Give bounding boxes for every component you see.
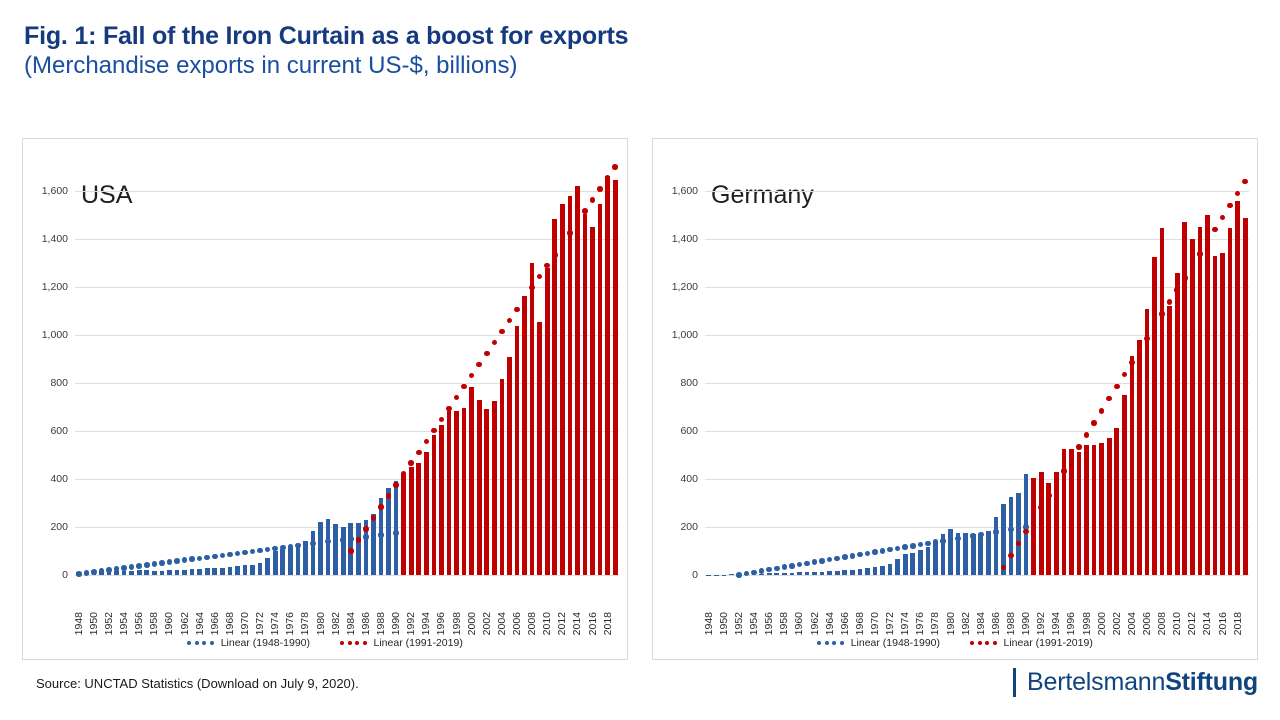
trendline-dot-blue (1001, 528, 1007, 534)
trendline-dot-red (1091, 420, 1097, 426)
y-axis-tick-label: 1,600 (42, 185, 68, 197)
trendline-dot-blue (880, 548, 886, 554)
trendline-dot-blue (159, 560, 165, 566)
logo-bold: Stiftung (1165, 668, 1258, 696)
x-axis-tick-label: 1988 (1006, 612, 1017, 635)
x-axis-tick-label: 1960 (164, 612, 175, 635)
logo-bar-icon (1013, 668, 1016, 697)
trendline-dot-red (575, 219, 581, 225)
trendline-dot-blue (850, 553, 856, 559)
bar (220, 568, 225, 575)
trendline-dot-blue (189, 556, 195, 562)
bar (273, 551, 278, 575)
trendline-dot-blue (152, 561, 158, 567)
y-axis-tick-label: 600 (50, 425, 68, 437)
x-axis-tick-label: 1978 (930, 612, 941, 635)
x-axis-tick-label: 1998 (452, 612, 463, 635)
x-axis-tick-label: 1986 (991, 612, 1002, 635)
trendline-dot-red (597, 186, 603, 192)
y-axis-tick-label: 0 (62, 569, 68, 581)
plot-area-usa: 02004006008001,0001,2001,4001,600 (75, 167, 619, 575)
x-axis-tick-label: 1994 (1051, 612, 1062, 635)
trendline-dot-red (1038, 505, 1044, 511)
bar (1084, 445, 1089, 575)
bar (409, 467, 414, 575)
x-axis-tick-label: 1988 (376, 612, 387, 635)
trendline-dot-blue (348, 536, 354, 542)
bar (888, 564, 893, 575)
trendline-dot-red (1174, 287, 1180, 293)
trendline-dot-red (1061, 468, 1067, 474)
bar (484, 409, 489, 575)
bar (1092, 445, 1097, 575)
bar (552, 219, 557, 575)
bar (918, 550, 923, 575)
bar (1167, 306, 1172, 575)
bar (492, 401, 497, 575)
bar (1031, 478, 1036, 575)
trendline-dot-blue (265, 547, 271, 553)
trendline-dot-red (1197, 251, 1203, 257)
bar (605, 176, 610, 575)
trendline-dot-blue (363, 534, 369, 540)
trendline-dot-red (492, 340, 498, 346)
trendline-dot-blue (227, 552, 233, 558)
trendline-dot-blue (129, 564, 135, 570)
trendline-dot-blue (371, 533, 377, 539)
trendline-dot-blue (257, 548, 263, 554)
bar (880, 566, 885, 575)
bar (1145, 309, 1150, 575)
bar (1220, 253, 1225, 575)
trendline-dot-red (408, 460, 414, 466)
x-axis-tick-label: 1984 (346, 612, 357, 635)
bar (228, 567, 233, 575)
trendline-dot-red (1084, 432, 1090, 438)
bar (545, 268, 550, 575)
trendline-dot-red (1159, 311, 1165, 317)
x-axis-tick-label: 1976 (915, 612, 926, 635)
bar (318, 522, 323, 575)
bar (265, 558, 270, 575)
trendline-dot-blue (295, 543, 301, 549)
trendline-dot-red (1069, 456, 1075, 462)
x-axis-tick-label: 1962 (180, 612, 191, 635)
x-axis-tick-label: 1974 (270, 612, 281, 635)
bar (333, 524, 338, 575)
trendline-dot-blue (136, 563, 142, 569)
trendline-dot-blue (167, 559, 173, 565)
page-title: Fig. 1: Fall of the Iron Curtain as a bo… (24, 22, 628, 52)
y-axis-tick-label: 1,000 (672, 329, 698, 341)
trendline-dot-blue (220, 553, 226, 559)
trendline-dot-blue (766, 567, 772, 573)
trendline-dot-blue (955, 536, 961, 542)
y-axis-tick-label: 1,200 (42, 281, 68, 293)
trendline-dot-blue (782, 564, 788, 570)
trendline-dot-red (1076, 444, 1082, 450)
trendline-dot-red (1023, 529, 1029, 535)
bar (1099, 443, 1104, 575)
bar (1107, 438, 1112, 575)
legend-usa: Linear (1948-1990) Linear (1991-2019) (23, 637, 627, 649)
trendline-dot-blue (902, 544, 908, 550)
x-axis-tick-label: 2002 (482, 612, 493, 635)
bar (1198, 227, 1203, 575)
dotted-line-red-icon (340, 641, 367, 645)
x-axis-tick-label: 2000 (1097, 612, 1108, 635)
x-axis-tick-label: 1990 (391, 612, 402, 635)
trendline-dot-blue (174, 558, 180, 564)
bar (477, 400, 482, 575)
trendline-dot-red (507, 318, 513, 324)
bar (926, 547, 931, 575)
bar (873, 567, 878, 575)
x-axis-tick-label: 2018 (603, 612, 614, 635)
x-axis-tick-label: 1980 (946, 612, 957, 635)
x-axis-tick-label: 1996 (1066, 612, 1077, 635)
trendline-dot-red (1242, 179, 1248, 185)
x-axis-tick-label: 1954 (749, 612, 760, 635)
trendline-dot-blue (212, 554, 218, 560)
bar (560, 204, 565, 575)
bar (613, 180, 618, 575)
x-axis-tick-label: 1956 (134, 612, 145, 635)
x-axis-tick-label: 2014 (1202, 612, 1213, 635)
trendline-dot-red (363, 526, 369, 532)
legend-germany: Linear (1948-1990) Linear (1991-2019) (653, 637, 1257, 649)
bar (469, 387, 474, 575)
bar (598, 204, 603, 575)
trendline-dot-blue (789, 563, 795, 569)
trendline-dot-blue (887, 547, 893, 553)
x-axis-tick-label: 1962 (810, 612, 821, 635)
legend-label-red: Linear (1991-2019) (374, 637, 463, 649)
trendline-dot-red (514, 307, 520, 313)
x-axis-tick-label: 1990 (1021, 612, 1032, 635)
trendline-dot-blue (925, 541, 931, 547)
trendline-dot-blue (910, 543, 916, 549)
bar (258, 563, 263, 575)
bar (522, 296, 527, 575)
bar (1009, 497, 1014, 575)
legend-label-blue: Linear (1948-1990) (221, 637, 310, 649)
x-axis-tick-label: 2014 (572, 612, 583, 635)
x-axis-tick-label: 1972 (885, 612, 896, 635)
bar (865, 568, 870, 575)
trendline-dot-blue (797, 562, 803, 568)
bar (1069, 449, 1074, 575)
trendline-dot-red (552, 252, 558, 258)
bar (500, 379, 505, 576)
x-axis-tick-label: 1956 (764, 612, 775, 635)
x-axis-tick-label: 2006 (1142, 612, 1153, 635)
trendline-dot-red (612, 164, 618, 170)
x-axis-tick-label: 1970 (870, 612, 881, 635)
x-axis-tick-label: 1964 (195, 612, 206, 635)
bar (243, 565, 248, 575)
bar (515, 326, 520, 575)
trendline-dot-red (590, 197, 596, 203)
title-block: Fig. 1: Fall of the Iron Curtain as a bo… (24, 22, 628, 80)
x-axis-tick-label: 2000 (467, 612, 478, 635)
bar (933, 541, 938, 575)
trendline-dot-red (1227, 203, 1233, 209)
trendline-dot-blue (182, 557, 188, 563)
trendline-dot-red (1190, 263, 1196, 269)
trendline-dot-red (537, 274, 543, 280)
chart-panel-usa: USA 02004006008001,0001,2001,4001,600 19… (22, 138, 628, 660)
trendline-dot-blue (774, 566, 780, 572)
x-axis-tick-label: 1984 (976, 612, 987, 635)
trendline-dot-red (1114, 384, 1120, 390)
trendline-dot-red (469, 373, 475, 379)
trendline-dot-red (1182, 275, 1188, 281)
plot-area-germany: 02004006008001,0001,2001,4001,600 (705, 167, 1249, 575)
trendline-dot-blue (242, 550, 248, 556)
trendline-dot-red (1099, 408, 1105, 414)
legend-label-red: Linear (1991-2019) (1004, 637, 1093, 649)
trendline-dot-red (1122, 372, 1128, 378)
bar (296, 546, 301, 575)
x-axis-tick-label: 1974 (900, 612, 911, 635)
x-axis-tick-label: 2010 (542, 612, 553, 635)
trendline-dot-blue (114, 566, 120, 572)
trendline-dot-red (461, 384, 467, 390)
trendline-dot-red (1144, 336, 1150, 342)
bar (250, 565, 255, 575)
x-axis-tick-label: 1968 (225, 612, 236, 635)
bar (895, 559, 900, 575)
bar (447, 410, 452, 575)
trendline-dot-blue (91, 569, 97, 575)
x-axis-tick-label: 1986 (361, 612, 372, 635)
bar (1235, 201, 1240, 575)
trendline-dot-red (446, 406, 452, 412)
bar (356, 523, 361, 576)
trendline-dot-red (1054, 480, 1060, 486)
x-axis-tick-label: 1948 (74, 612, 85, 635)
bar (341, 527, 346, 575)
logo-regular: Bertelsmann (1027, 668, 1165, 696)
trendline-dot-red (582, 208, 588, 214)
trendline-dot-red (378, 504, 384, 510)
dotted-line-blue-icon (817, 641, 844, 645)
bar (1243, 218, 1248, 575)
trendline-dot-red (1205, 239, 1211, 245)
trendline-dot-blue (378, 532, 384, 538)
bar (1205, 215, 1210, 575)
bar (439, 425, 444, 575)
trendline-dot-blue (978, 532, 984, 538)
bar (462, 408, 467, 575)
y-axis-tick-label: 1,200 (672, 281, 698, 293)
x-axis-tick-label: 2018 (1233, 612, 1244, 635)
bar (288, 547, 293, 575)
x-axis-tick-label: 1978 (300, 612, 311, 635)
trendline-dot-blue (197, 556, 203, 562)
trendline-dot-blue (812, 559, 818, 565)
page-subtitle: (Merchandise exports in current US-$, bi… (24, 52, 628, 80)
x-axis-tick-label: 1958 (149, 612, 160, 635)
trendline-dot-blue (986, 531, 992, 537)
x-axis-tick-label: 2004 (497, 612, 508, 635)
legend-item-red: Linear (1991-2019) (970, 637, 1093, 649)
trendline-dot-red (454, 395, 460, 401)
bar (1122, 395, 1127, 575)
x-axis-tick-label: 1972 (255, 612, 266, 635)
x-axis-tick-label: 1982 (331, 612, 342, 635)
trendline-dot-red (424, 439, 430, 445)
x-axis-tick-label: 2008 (1157, 612, 1168, 635)
bar (575, 186, 580, 575)
trendline-dot-blue (827, 557, 833, 563)
trendline-dot-blue (280, 545, 286, 551)
x-axis-tick-label: 1982 (961, 612, 972, 635)
y-axis-tick-label: 0 (692, 569, 698, 581)
bars-usa (75, 167, 619, 575)
bar (1190, 239, 1195, 575)
x-axis-tick-label: 1966 (840, 612, 851, 635)
trendline-dot-red (1235, 191, 1241, 197)
bar (1077, 452, 1082, 575)
y-axis-tick-label: 400 (680, 473, 698, 485)
dotted-line-blue-icon (187, 641, 214, 645)
bar (971, 534, 976, 575)
y-axis-tick-label: 1,400 (42, 233, 68, 245)
bar (1114, 428, 1119, 575)
chart-panel-germany: Germany 02004006008001,0001,2001,4001,60… (652, 138, 1258, 660)
bar (326, 519, 331, 575)
bar (590, 227, 595, 575)
bars-germany (705, 167, 1249, 575)
bar (978, 534, 983, 575)
bar (1152, 257, 1157, 575)
trendline-dot-blue (121, 565, 127, 571)
bar (1137, 340, 1142, 575)
bar (280, 549, 285, 575)
x-axis-tick-label: 2002 (1112, 612, 1123, 635)
trendline-dot-red (348, 548, 354, 554)
trendline-dot-blue (865, 551, 871, 557)
chart-panels: USA 02004006008001,0001,2001,4001,600 19… (22, 138, 1258, 660)
bar (424, 452, 429, 575)
trendline-dot-red (1167, 299, 1173, 305)
x-axis-tick-label: 1994 (421, 612, 432, 635)
trendline-dot-blue (993, 529, 999, 535)
y-axis-tick-label: 200 (680, 521, 698, 533)
trendline-dot-red (356, 537, 362, 543)
trendline-dot-blue (393, 530, 399, 536)
trendline-dot-red (476, 362, 482, 368)
x-axis-tick-label: 2012 (1187, 612, 1198, 635)
trendline-dot-red (371, 515, 377, 521)
bar (537, 322, 542, 575)
x-axis-tick-label: 2004 (1127, 612, 1138, 635)
source-note: Source: UNCTAD Statistics (Download on J… (36, 676, 359, 691)
trendline-dot-blue (940, 538, 946, 544)
bar (212, 568, 217, 575)
trendline-dot-blue (333, 538, 339, 544)
x-axis-tick-label: 1950 (89, 612, 100, 635)
x-axis-tick-label: 2008 (527, 612, 538, 635)
x-axis-tick-label: 1998 (1082, 612, 1093, 635)
trendline-dot-blue (386, 531, 392, 537)
x-axis-tick-label: 1980 (316, 612, 327, 635)
y-axis-tick-label: 800 (50, 377, 68, 389)
bar (401, 474, 406, 575)
y-axis-tick-label: 200 (50, 521, 68, 533)
trendline-dot-red (1220, 215, 1226, 221)
x-axis-tick-label: 1992 (1036, 612, 1047, 635)
trendline-dot-blue (804, 561, 810, 567)
trendline-dot-blue (933, 539, 939, 545)
x-axis-usa: 1948195019521954195619581960196219641966… (75, 575, 619, 635)
trendline-dot-blue (106, 567, 112, 573)
bar (371, 514, 376, 575)
x-axis-tick-label: 1954 (119, 612, 130, 635)
bar (986, 531, 991, 575)
y-axis-tick-label: 1,400 (672, 233, 698, 245)
trendline-dot-red (1129, 360, 1135, 366)
x-axis-tick-label: 1952 (104, 612, 115, 635)
bar (948, 529, 953, 575)
trendline-dot-blue (144, 562, 150, 568)
x-axis-tick-label: 2016 (1218, 612, 1229, 635)
x-axis-tick-label: 1948 (704, 612, 715, 635)
trendline-dot-red (393, 482, 399, 488)
trendline-dot-red (567, 230, 573, 236)
bertelsmann-logo: BertelsmannStiftung (1013, 668, 1258, 697)
x-axis-tick-label: 2016 (588, 612, 599, 635)
legend-item-red: Linear (1991-2019) (340, 637, 463, 649)
bar (568, 196, 573, 575)
bar (1213, 256, 1218, 575)
bar (394, 481, 399, 575)
x-axis-tick-label: 2012 (557, 612, 568, 635)
x-axis-tick-label: 1964 (825, 612, 836, 635)
trendline-dot-blue (842, 554, 848, 560)
bar (994, 517, 999, 575)
x-axis-tick-label: 1992 (406, 612, 417, 635)
bar (903, 554, 908, 575)
trendline-dot-blue (235, 551, 241, 557)
x-axis-tick-label: 1950 (719, 612, 730, 635)
trendline-dot-red (484, 351, 490, 357)
bar (454, 411, 459, 575)
bar (1175, 273, 1180, 575)
dotted-line-red-icon (970, 641, 997, 645)
trendline-dot-red (439, 417, 445, 423)
trendline-dot-blue (895, 546, 901, 552)
trendline-dot-blue (340, 537, 346, 543)
bar (1054, 472, 1059, 575)
bar (1016, 493, 1021, 575)
trendline-dot-blue (1008, 527, 1014, 533)
bar (205, 568, 210, 575)
legend-label-blue: Linear (1948-1990) (851, 637, 940, 649)
x-axis-tick-label: 2010 (1172, 612, 1183, 635)
trendline-dot-red (499, 329, 505, 335)
x-axis-tick-label: 1970 (240, 612, 251, 635)
x-axis-tick-label: 1952 (734, 612, 745, 635)
bar (416, 463, 421, 575)
bar (583, 214, 588, 575)
bar (1039, 472, 1044, 575)
x-axis-tick-label: 1960 (794, 612, 805, 635)
y-axis-tick-label: 400 (50, 473, 68, 485)
y-axis-tick-label: 1,600 (672, 185, 698, 197)
